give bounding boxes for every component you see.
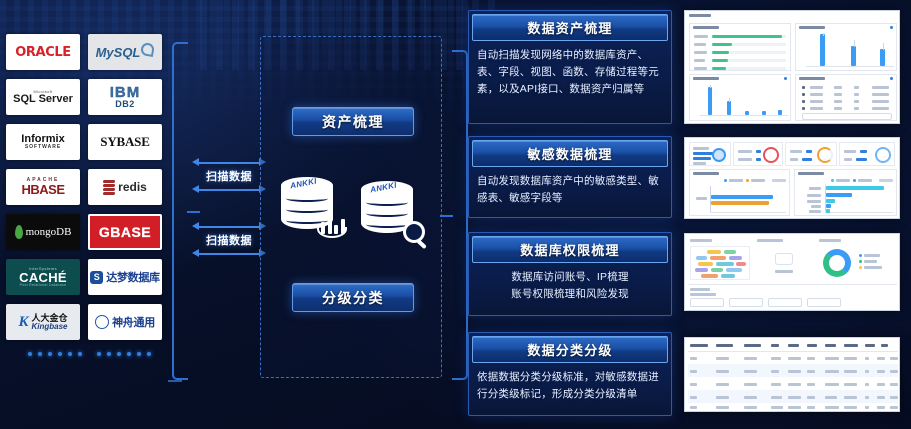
mini-panel-vertical-bars-1 <box>795 23 897 71</box>
mini-panel-hbar-chart-2 <box>794 169 897 216</box>
card-body: 数据库访问账号、IP梳理 账号权限梳理和风险发现 <box>469 263 671 310</box>
right-bracket-connector <box>452 50 468 380</box>
tag-cloud-panel <box>690 246 750 280</box>
empty-state-panel <box>755 246 815 280</box>
asset-inventory-pill-label: 资产梳理 <box>322 112 384 132</box>
card-data-asset-inventory[interactable]: 数据资产梳理 自动扫描发现网络中的数据库资产、表、字段、视图、函数、存储过程等元… <box>468 10 672 124</box>
logo-dameng-label: 达梦数据库 <box>106 269 160 285</box>
logo-redis-label: redis <box>118 180 147 194</box>
card-header: 数据分类分级 <box>472 336 668 363</box>
logo-column-2: MySQL IBM DB2 SYBASE redis GBAS <box>88 34 162 349</box>
card-data-classification[interactable]: 数据分类分级 依据数据分类分级标准，对敏感数据进行分类级标记，形成分类分级清单 <box>468 332 672 416</box>
card-description: 数据库访问账号、IP梳理 账号权限梳理和风险发现 <box>477 269 663 303</box>
logo-kingbase: K 人大金仓 Kingbase <box>6 304 80 340</box>
dameng-mark-icon: S <box>90 271 103 284</box>
database-icon-group: ANKKI ANKKI <box>275 169 431 249</box>
classification-pill-label: 分级分类 <box>322 288 384 308</box>
card-title: 敏感数据梳理 <box>527 144 612 163</box>
logo-mysql: MySQL <box>88 34 162 70</box>
card-description: 自动扫描发现网络中的数据库资产、表、字段、视图、函数、存储过程等元素，以及API… <box>477 47 663 98</box>
card-title: 数据资产梳理 <box>527 18 612 37</box>
logo-dameng: S 达梦数据库 <box>88 259 162 295</box>
mini-panel-progress-list <box>689 23 791 71</box>
more-databases-indicator-2 <box>97 352 151 356</box>
more-databases-indicator-1 <box>28 352 82 356</box>
card-body: 自动扫描发现网络中的数据库资产、表、字段、视图、函数、存储过程等元素，以及API… <box>469 41 671 105</box>
screenshot-asset-inventory-dashboard[interactable] <box>684 10 900 124</box>
scan-data-connector-bottom: 扫描数据 <box>192 222 266 258</box>
mysql-dolphin-icon <box>140 41 155 56</box>
logo-ibm-label: IBM <box>110 85 141 100</box>
card-database-privilege-inventory[interactable]: 数据库权限梳理 数据库访问账号、IP梳理 账号权限梳理和风险发现 <box>468 232 672 316</box>
logo-shenzhou-label: 神舟通用 <box>112 314 155 330</box>
classification-pill[interactable]: 分级分类 <box>292 283 414 312</box>
screenshot-privilege-dashboard[interactable] <box>684 233 900 311</box>
kpi-gauge-card-2 <box>785 142 837 166</box>
database-search-icon: ANKKI <box>361 181 413 239</box>
logo-kingbase-sub: Kingbase <box>32 323 68 331</box>
logo-hbase-label: HBASE <box>21 183 64 196</box>
card-title: 数据分类分级 <box>527 340 612 359</box>
logo-shenzhou: 神舟通用 <box>88 304 162 340</box>
center-process-panel: 资产梳理 ANKKI <box>260 36 442 378</box>
card-header: 数据库权限梳理 <box>472 236 668 263</box>
logo-column-1: ORACLE Microsoft SQL Server Informix SOF… <box>6 34 80 349</box>
logo-cache: InterSystems CACHÉ Post Relational Datab… <box>6 259 80 295</box>
filter-input-1[interactable] <box>690 298 724 307</box>
kpi-gauge-card-1 <box>733 142 783 166</box>
scan-arrow-bottom-lower <box>192 249 266 258</box>
logo-sybase: SYBASE <box>88 124 162 160</box>
logo-sybase-label: SYBASE <box>100 134 149 150</box>
scan-data-label-bottom: 扫描数据 <box>192 231 266 249</box>
magnifier-icon <box>403 221 425 243</box>
card-description: 自动发现数据库资产中的敏感类型、敏感表、敏感字段等 <box>477 173 663 207</box>
kpi-gauge-card-3 <box>839 142 895 166</box>
left-bracket-connector <box>172 42 188 380</box>
kpi-summary-card <box>689 142 731 166</box>
logo-ibm-db2: IBM DB2 <box>88 79 162 115</box>
logo-mongodb-label: mongoDB <box>26 226 72 238</box>
logo-redis: redis <box>88 169 162 205</box>
logo-mysql-label: MySQL <box>96 45 141 60</box>
logo-gbase: GBASE <box>88 214 162 250</box>
logo-hbase: APACHE HBASE <box>6 169 80 205</box>
mini-panel-vertical-bars-2 <box>689 74 791 121</box>
asset-inventory-pill[interactable]: 资产梳理 <box>292 107 414 136</box>
logo-db2-sub: DB2 <box>115 100 135 109</box>
logo-cache-tagline: Post Relational Database <box>20 284 67 288</box>
donut-chart-panel <box>819 246 897 280</box>
filter-input-3[interactable] <box>768 298 802 307</box>
scan-data-label-top: 扫描数据 <box>192 167 266 185</box>
logo-informix-sub: SOFTWARE <box>25 145 61 150</box>
screenshot-sensitive-data-dashboard[interactable] <box>684 137 900 219</box>
mongodb-leaf-icon <box>15 225 23 239</box>
logo-sqlserver-label: SQL Server <box>13 94 73 105</box>
logo-informix: Informix SOFTWARE <box>6 124 80 160</box>
filter-input-4[interactable] <box>807 298 841 307</box>
screenshot-classification-table[interactable] <box>684 337 900 412</box>
card-body: 依据数据分类分级标准，对敏感数据进行分类级标记，形成分类分级清单 <box>469 363 671 410</box>
scan-data-connector-top: 扫描数据 <box>192 158 266 194</box>
card-header: 敏感数据梳理 <box>472 140 668 167</box>
card-title: 数据库权限梳理 <box>520 240 619 259</box>
card-sensitive-data-inventory[interactable]: 敏感数据梳理 自动发现数据库资产中的敏感类型、敏感表、敏感字段等 <box>468 136 672 218</box>
logo-cache-label: CACHÉ <box>19 271 67 284</box>
scan-arrow-top-lower <box>192 185 266 194</box>
diagram-canvas: ORACLE Microsoft SQL Server Informix SOF… <box>0 0 911 429</box>
filter-input-2[interactable] <box>729 298 763 307</box>
card-body: 自动发现数据库资产中的敏感类型、敏感表、敏感字段等 <box>469 167 671 214</box>
database-analytics-icon: ANKKI <box>281 177 333 235</box>
scan-arrow-bottom-upper <box>192 222 266 231</box>
logo-gbase-label: GBASE <box>99 224 151 240</box>
logo-oracle-label: ORACLE <box>15 45 70 60</box>
scan-arrow-top-upper <box>192 158 266 167</box>
mini-panel-hbar-chart-1 <box>689 169 790 216</box>
mini-panel-data-table <box>795 74 897 121</box>
accent-line-left <box>168 380 182 382</box>
logo-oracle: ORACLE <box>6 34 80 70</box>
logo-mongodb: mongoDB <box>6 214 80 250</box>
redis-stack-icon <box>103 180 115 195</box>
logo-sqlserver: Microsoft SQL Server <box>6 79 80 115</box>
card-description: 依据数据分类分级标准，对敏感数据进行分类级标记，形成分类分级清单 <box>477 369 663 403</box>
card-header: 数据资产梳理 <box>472 14 668 41</box>
shenzhou-mark-icon <box>95 315 109 329</box>
bar-chart-icon <box>321 216 345 234</box>
kingbase-mark-icon: K <box>18 314 28 331</box>
